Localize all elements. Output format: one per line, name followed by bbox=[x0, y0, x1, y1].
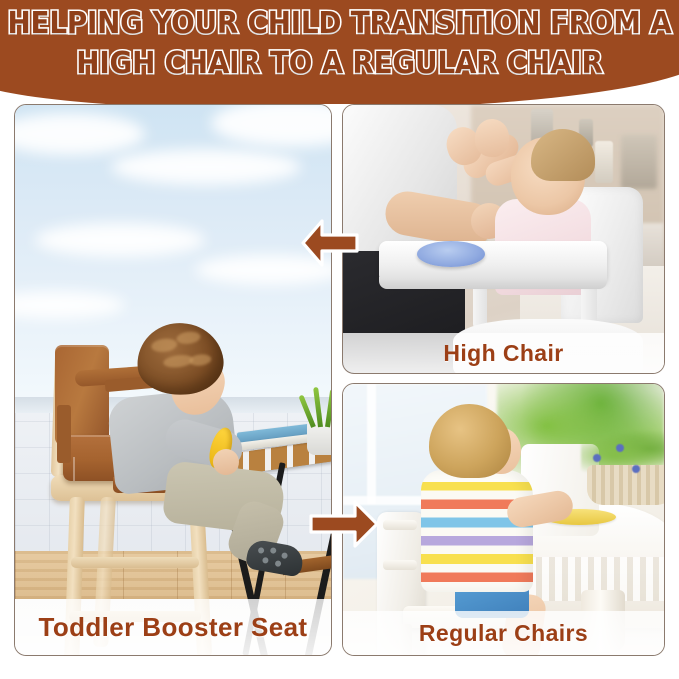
shoe-hole bbox=[270, 547, 277, 554]
page-title: HELPING YOUR CHILD TRANSITION FROM A HIG… bbox=[0, 4, 679, 83]
cloud-shape bbox=[111, 149, 301, 185]
shoe-hole bbox=[281, 552, 288, 559]
hair-curl bbox=[189, 353, 212, 367]
shoe-hole bbox=[275, 560, 282, 567]
scene-toddler-booster-seat bbox=[15, 105, 331, 655]
chair-rung bbox=[71, 557, 199, 568]
shoe-hole bbox=[262, 557, 269, 564]
chair-slat bbox=[383, 560, 417, 570]
hair-curl bbox=[176, 330, 201, 345]
counter-item bbox=[621, 135, 657, 189]
booster-seat-seam bbox=[73, 457, 75, 481]
panel-label-high-chair: High Chair bbox=[343, 333, 664, 373]
booster-seat-strap bbox=[57, 405, 71, 463]
shoe-hole bbox=[258, 547, 265, 554]
page-title-line-1: HELPING YOUR CHILD TRANSITION FROM A bbox=[0, 4, 679, 44]
panel-high-chair[interactable]: High Chair bbox=[342, 104, 665, 374]
panel-label-toddler-booster-seat: Toddler Booster Seat bbox=[15, 599, 331, 655]
page-title-line-2: HIGH CHAIR TO A REGULAR CHAIR bbox=[0, 44, 679, 84]
high-chair-tray-lip bbox=[379, 277, 607, 289]
panel-toddler-booster-seat[interactable]: Toddler Booster Seat bbox=[14, 104, 332, 656]
panel-label-regular-chairs: Regular Chairs bbox=[343, 611, 664, 655]
wicker-basket bbox=[587, 465, 664, 505]
header-banner: HELPING YOUR CHILD TRANSITION FROM A HIG… bbox=[0, 0, 679, 104]
chair-slat bbox=[383, 520, 417, 530]
arrow-left-icon bbox=[299, 218, 361, 268]
arrow-right-icon bbox=[307, 498, 381, 550]
blue-flower bbox=[616, 444, 624, 452]
cloud-shape bbox=[35, 223, 205, 257]
window-frame bbox=[367, 384, 376, 504]
counter-bottle bbox=[595, 141, 613, 183]
panel-regular-chairs[interactable]: Regular Chairs bbox=[342, 383, 665, 656]
hair-curl bbox=[151, 337, 178, 353]
boy-striped-shirt bbox=[421, 470, 533, 592]
blue-bowl bbox=[417, 241, 485, 267]
